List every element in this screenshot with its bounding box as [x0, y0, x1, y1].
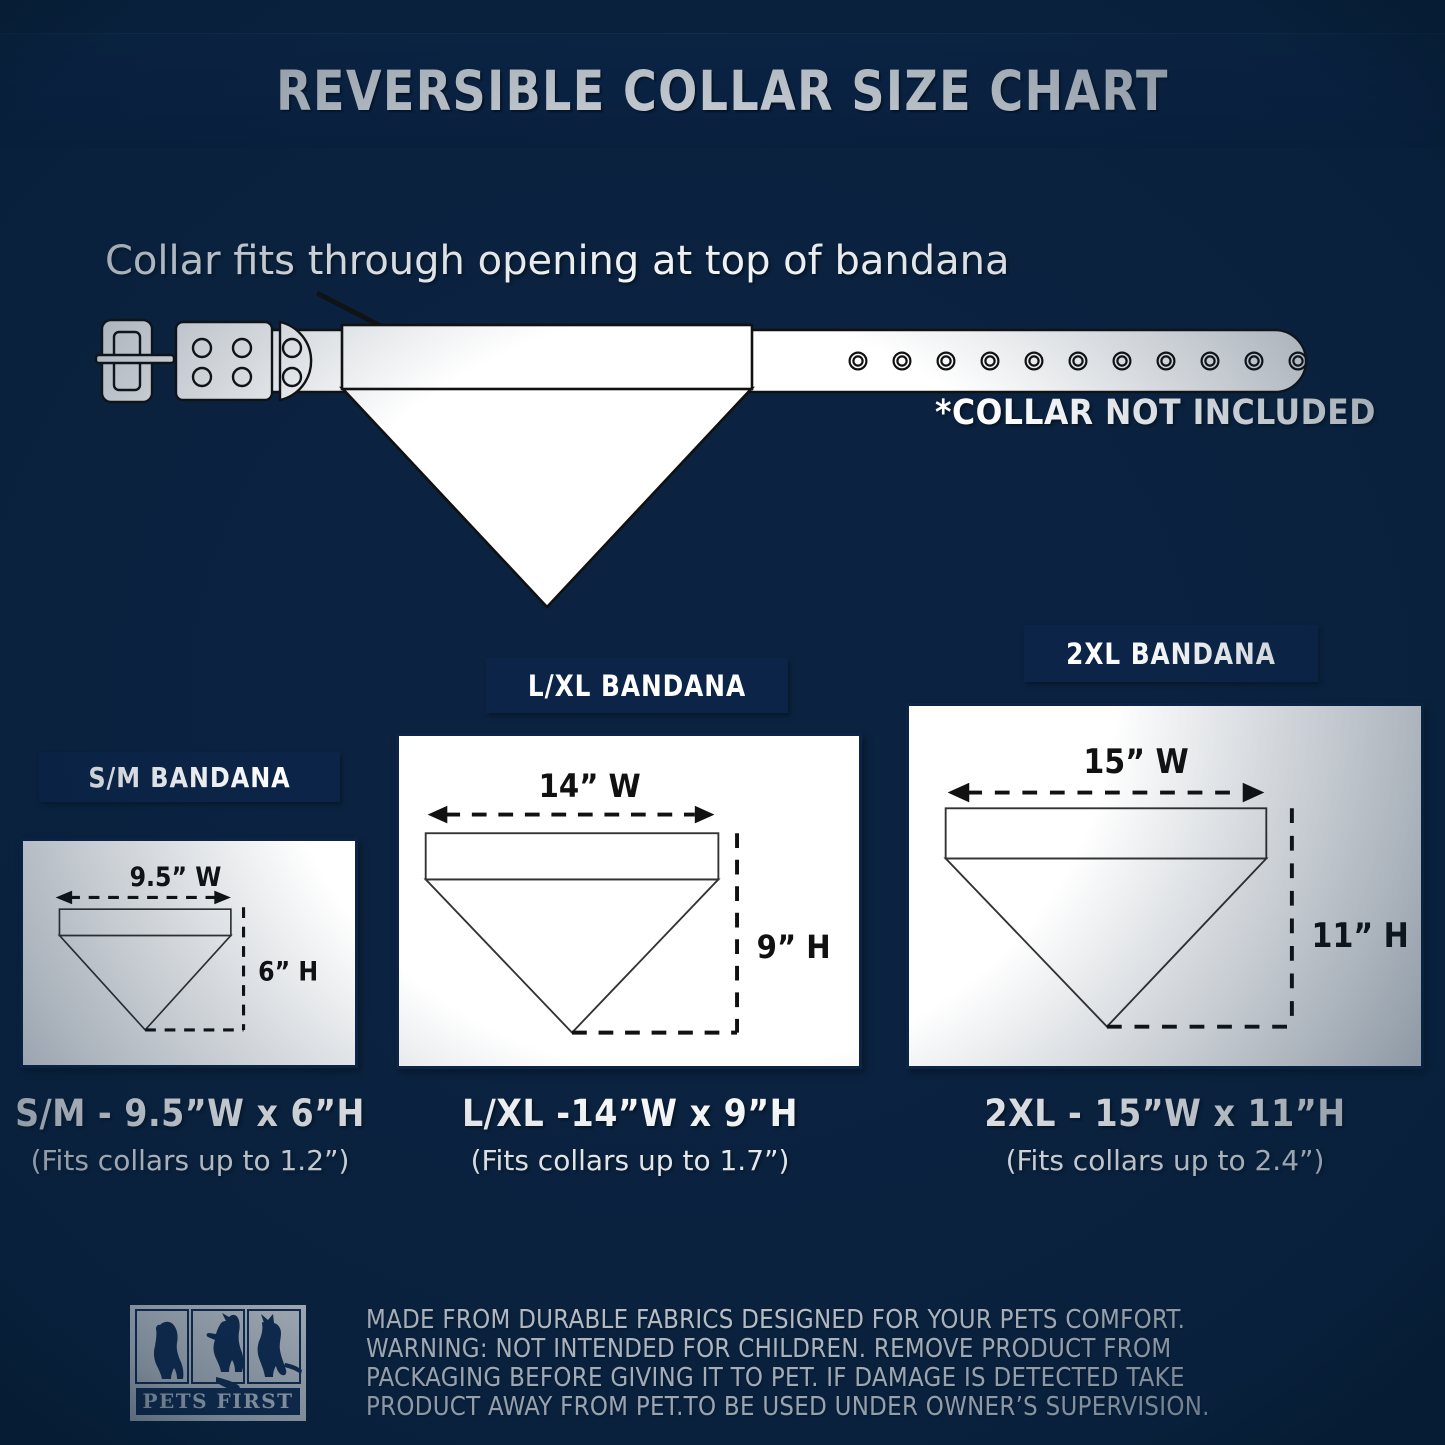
bandana-opening-band-sm	[59, 909, 230, 935]
collar-with-bandana-illustration	[80, 270, 1370, 630]
collar-buckle-icon	[96, 320, 311, 402]
pets-first-logo: PETS FIRST	[130, 1305, 306, 1421]
bandana-opening-band-2xl	[946, 808, 1267, 858]
bandana-triangle-sm	[59, 935, 230, 1029]
caption-main-lxl: L/XL -14”W x 9”H	[430, 1092, 830, 1135]
page-title: REVERSIBLE COLLAR SIZE CHART	[51, 33, 1395, 148]
caption-sub-sm: (Fits collars up to 1.2”)	[0, 1144, 380, 1177]
size-label-sm: S/M BANDANA	[39, 752, 340, 802]
height-dimension-label-2xl: 11” H	[1312, 916, 1409, 955]
width-dimension-arrow-lxl	[428, 806, 715, 824]
size-diagram-lxl: 14” W 9” H	[396, 733, 862, 1069]
footer-line-2: WARNING: NOT INTENDED FOR CHILDREN. REMO…	[366, 1335, 1356, 1364]
caption-sub-2xl: (Fits collars up to 2.4”)	[955, 1144, 1375, 1177]
footer-line-1: MADE FROM DURABLE FABRICS DESIGNED FOR Y…	[366, 1306, 1356, 1335]
caption-main-2xl: 2XL - 15”W x 11”H	[955, 1092, 1375, 1135]
caption-sm: S/M - 9.5”W x 6”H (Fits collars up to 1.…	[0, 1092, 380, 1177]
size-chart-infographic: REVERSIBLE COLLAR SIZE CHART Collar fits…	[0, 0, 1445, 1445]
caption-sub-lxl: (Fits collars up to 1.7”)	[430, 1144, 830, 1177]
bandana-opening-band-lxl	[426, 833, 719, 879]
caption-main-sm: S/M - 9.5”W x 6”H	[0, 1092, 380, 1135]
bandana-diagram-lxl: 14” W 9” H	[399, 736, 859, 1066]
caption-2xl: 2XL - 15”W x 11”H (Fits collars up to 2.…	[955, 1092, 1375, 1177]
bandana-on-collar	[342, 325, 752, 607]
width-dimension-label-2xl: 15” W	[1083, 742, 1188, 781]
width-dimension-label-lxl: 14” W	[539, 767, 641, 805]
bandana-diagram-2xl: 15” W 11” H	[909, 706, 1421, 1066]
footer-line-4: PRODUCT AWAY FROM PET.TO BE USED UNDER O…	[366, 1393, 1356, 1422]
logo-wordmark: PETS FIRST	[142, 1389, 293, 1413]
caption-lxl: L/XL -14”W x 9”H (Fits collars up to 1.7…	[430, 1092, 830, 1177]
size-label-lxl: L/XL BANDANA	[486, 658, 788, 713]
footer-line-3: PACKAGING BEFORE GIVING IT TO PET. IF DA…	[366, 1364, 1356, 1393]
size-diagram-2xl: 15” W 11” H	[906, 703, 1424, 1069]
size-label-2xl: 2XL BANDANA	[1024, 625, 1319, 682]
width-dimension-label-sm: 9.5” W	[130, 863, 222, 893]
bandana-diagram-sm: 9.5” W 6” H	[23, 841, 355, 1065]
height-dimension-label-lxl: 9” H	[757, 928, 831, 966]
bandana-triangle-2xl	[946, 858, 1267, 1026]
bandana-triangle-lxl	[426, 879, 719, 1032]
size-diagram-sm: 9.5” W 6” H	[20, 838, 358, 1068]
footer-disclaimer-text: MADE FROM DURABLE FABRICS DESIGNED FOR Y…	[366, 1306, 1356, 1422]
width-dimension-arrow-2xl	[948, 783, 1265, 803]
height-dimension-label-sm: 6” H	[258, 957, 318, 987]
